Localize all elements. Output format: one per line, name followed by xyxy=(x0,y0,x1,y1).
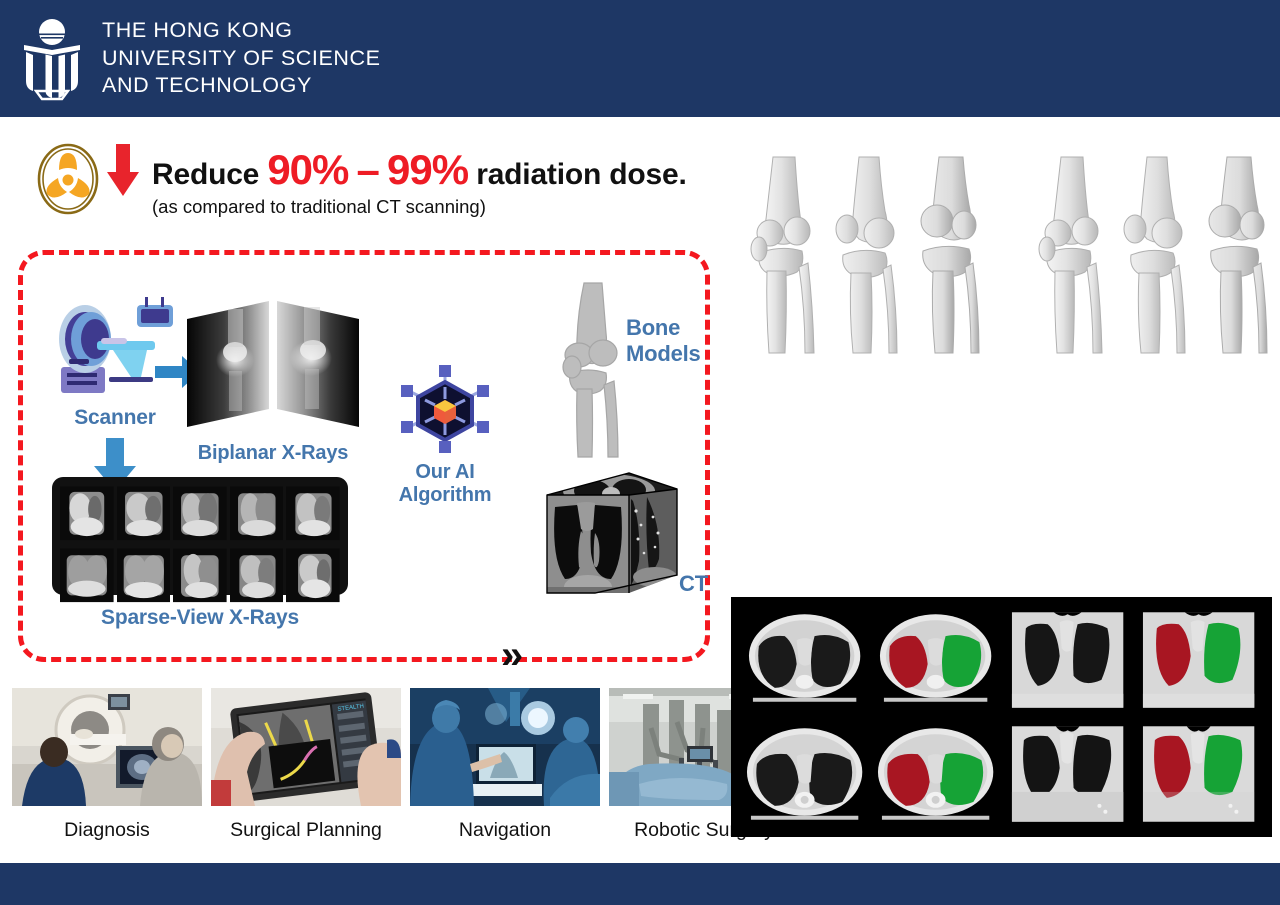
grey-knee-bone-3d xyxy=(1033,155,1109,355)
application-card: STEALTH Surgical Planning xyxy=(211,688,401,842)
application-strip: Diagnosis xyxy=(12,688,799,842)
sparse-xray-cell xyxy=(173,546,227,605)
grey-knee-bone-3d xyxy=(909,155,985,355)
pipeline-stage-sparse-view: Sparse-View X-Rays xyxy=(45,477,355,630)
bone-label-line-2: Models xyxy=(626,341,701,367)
page-footer xyxy=(0,863,1280,905)
sparse-xray-grid xyxy=(52,477,348,595)
headline-suffix: radiation dose. xyxy=(476,158,686,191)
grey-knee-bone-3d xyxy=(1197,155,1273,355)
knee-bone-model-icon xyxy=(546,281,638,461)
ai-label-line-2: Algorithm xyxy=(385,484,505,507)
knee-error-heatmap-3d xyxy=(909,378,985,573)
headline-prefix: Reduce xyxy=(152,158,259,191)
knee-error-heatmap-3d xyxy=(1033,378,1109,573)
biplanar-label: Biplanar X-Rays xyxy=(178,442,368,465)
headline-dash: – xyxy=(357,146,379,193)
ct-label: CT xyxy=(679,571,708,597)
application-caption: Surgical Planning xyxy=(211,819,401,842)
hkust-logo-icon xyxy=(22,17,82,101)
grey-knee-bone-3d xyxy=(827,155,903,355)
pipeline-stage-ai: Our AI Algorithm xyxy=(385,365,505,507)
university-name-line-3: AND TECHNOLOGY xyxy=(102,72,381,100)
ct-cell-coronal-plain xyxy=(1004,605,1131,715)
tablet-planning-photo: STEALTH xyxy=(211,688,401,806)
ai-label-line-1: Our AI xyxy=(385,461,505,484)
pipeline-diagram: Scanner xyxy=(18,250,710,662)
or-navigation-photo xyxy=(410,688,600,806)
headline-percent-low: 90% xyxy=(267,146,348,193)
red-down-arrow-icon xyxy=(106,144,140,198)
chevron-to-bone-icon: » xyxy=(501,635,523,675)
application-card: Diagnosis xyxy=(12,688,202,842)
sparse-xray-cell xyxy=(286,484,340,543)
ct-cell-axial-segmented xyxy=(872,719,999,829)
ct-cell-axial-plain xyxy=(741,605,868,715)
university-logo-lockup: THE HONG KONG UNIVERSITY OF SCIENCE AND … xyxy=(22,17,381,101)
application-caption: Diagnosis xyxy=(12,819,202,842)
sparse-xray-cell xyxy=(60,546,114,605)
grey-knee-bone-3d xyxy=(1115,155,1191,355)
university-name: THE HONG KONG UNIVERSITY OF SCIENCE AND … xyxy=(102,17,381,100)
sparse-view-label: Sparse-View X-Rays xyxy=(45,606,355,630)
application-caption: Navigation xyxy=(410,819,600,842)
sparse-xray-cell xyxy=(230,546,284,605)
sparse-xray-cell xyxy=(60,484,114,543)
sparse-xray-cell xyxy=(230,484,284,543)
pipeline-stage-scanner: Scanner xyxy=(45,297,185,492)
ct-cell-coronal-plain xyxy=(1004,719,1131,829)
university-name-line-1: THE HONG KONG xyxy=(102,17,381,45)
bone-label-line-1: Bone xyxy=(626,315,701,341)
sparse-xray-cell xyxy=(117,484,171,543)
heatmap-row xyxy=(745,368,1273,573)
knee-error-heatmap-3d xyxy=(827,378,903,573)
headline-main-text: Reduce 90% – 99% radiation dose. xyxy=(152,146,687,194)
sparse-xray-cell xyxy=(117,546,171,605)
ct-cell-axial-segmented xyxy=(872,605,999,715)
bone-models-row xyxy=(745,140,1273,355)
scanner-label: Scanner xyxy=(45,406,185,430)
university-name-line-2: UNIVERSITY OF SCIENCE xyxy=(102,45,381,73)
ct-cell-axial-plain xyxy=(741,719,868,829)
pipeline-stage-biplanar: Biplanar X-Rays xyxy=(178,297,368,465)
sparse-xray-cell xyxy=(173,484,227,543)
heatmap-group-right xyxy=(1033,378,1273,573)
knee-error-heatmap-3d xyxy=(745,378,821,573)
headline-subtitle: (as compared to traditional CT scanning) xyxy=(152,196,687,218)
lung-ct-segmentation-grid xyxy=(731,597,1272,837)
application-card: Navigation xyxy=(410,688,600,842)
bone-models-group-left xyxy=(745,155,985,355)
knee-error-heatmap-3d xyxy=(1197,378,1273,573)
ct-cell-coronal-segmented xyxy=(1135,719,1262,829)
radiation-trefoil-icon xyxy=(36,142,100,216)
bone-models-group-right xyxy=(1033,155,1273,355)
heatmap-group-left xyxy=(745,378,985,573)
sparse-xray-cell xyxy=(286,546,340,605)
headline-block: Reduce 90% – 99% radiation dose. (as com… xyxy=(36,140,687,218)
ct-volume-cube-icon xyxy=(537,467,685,607)
headline-percent-high: 99% xyxy=(387,146,468,193)
grey-knee-bone-3d xyxy=(745,155,821,355)
ct-cell-coronal-segmented xyxy=(1135,605,1262,715)
ai-hexagon-node-icon xyxy=(401,365,489,453)
knee-error-heatmap-3d xyxy=(1115,378,1191,573)
biplanar-xray-panels xyxy=(183,297,363,432)
ct-scan-room-photo xyxy=(12,688,202,806)
page-header: THE HONG KONG UNIVERSITY OF SCIENCE AND … xyxy=(0,0,1280,117)
